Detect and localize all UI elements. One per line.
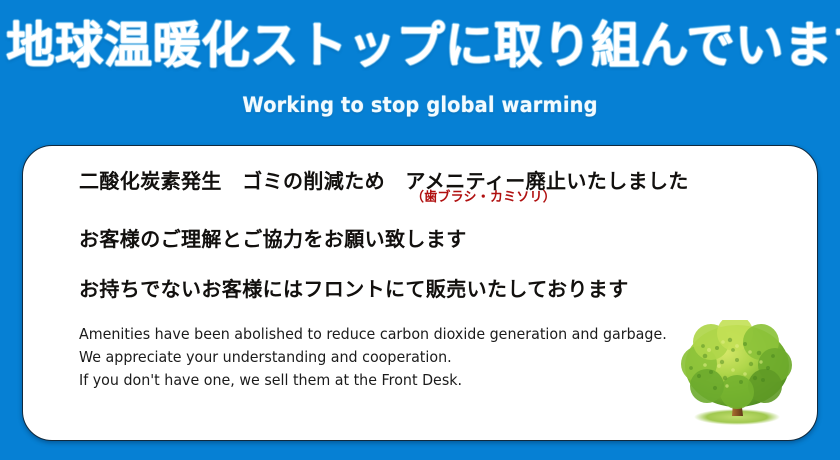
notice-japanese-line-2: お客様のご理解とご協力をお願い致します: [79, 226, 467, 252]
page-title: 地球温暖化ストップに取り組んでいます: [6, 18, 833, 74]
green-tree-icon: [675, 320, 803, 432]
eco-notice-poster: 地球温暖化ストップに取り組んでいます Working to stop globa…: [0, 0, 840, 460]
notice-card: 二酸化炭素発生 ゴミの削減ため アメニティー廃止いたしました （歯ブラシ・カミソ…: [22, 145, 818, 441]
notice-japanese-line-3: お持ちでないお客様にはフロントにて販売いたしております: [79, 276, 629, 302]
poster-header: 地球温暖化ストップに取り組んでいます Working to stop globa…: [0, 0, 840, 140]
notice-english-line-1: Amenities have been abolished to reduce …: [79, 323, 668, 346]
notice-japanese-note-red: （歯ブラシ・カミソリ）: [411, 190, 556, 206]
page-subtitle: Working to stop global warming: [34, 92, 807, 118]
notice-english-line-3: If you don't have one, we sell them at t…: [79, 369, 668, 392]
notice-english-block: Amenities have been abolished to reduce …: [79, 323, 699, 392]
notice-japanese-line-1: 二酸化炭素発生 ゴミの削減ため アメニティー廃止いたしました: [79, 168, 689, 194]
notice-english-line-2: We appreciate your understanding and coo…: [79, 346, 668, 369]
